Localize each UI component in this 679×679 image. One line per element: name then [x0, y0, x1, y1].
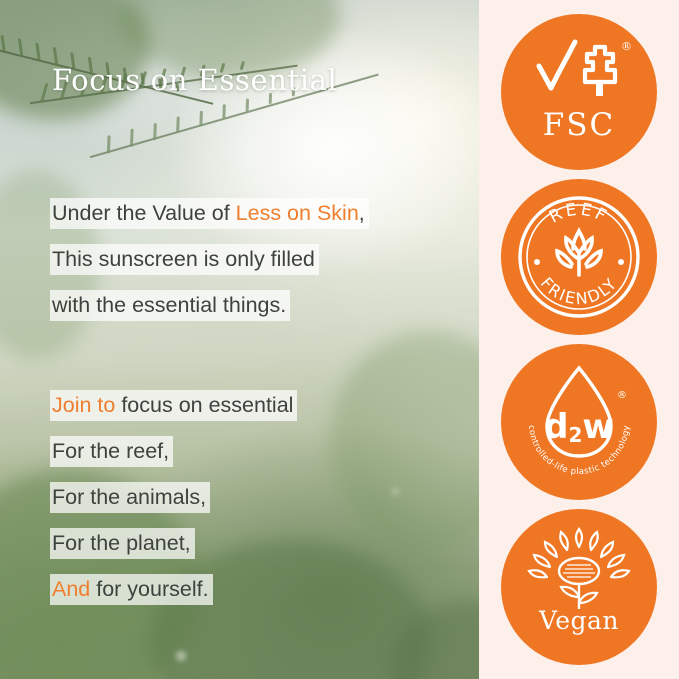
- text-run: for yourself.: [90, 577, 208, 601]
- page-title: Focus on Essential: [52, 63, 337, 97]
- vegan-label: Vegan: [539, 606, 619, 635]
- registered-mark: ®: [617, 390, 627, 401]
- svg-text:FRIENDLY: FRIENDLY: [537, 274, 622, 309]
- text-run: This sunscreen is only filled: [52, 247, 315, 271]
- text-line: This sunscreen is only filled: [50, 246, 369, 273]
- vegan-badge: Vegan: [501, 509, 657, 665]
- reef-friendly-badge: REEF FRIENDLY: [501, 179, 657, 335]
- text-line: Under the Value of Less on Skin,: [50, 200, 369, 227]
- text-line: For the animals,: [50, 484, 297, 511]
- text-run: with the essential things.: [52, 293, 286, 317]
- text-run: ,: [359, 201, 365, 225]
- text-run: For the reef,: [52, 439, 169, 463]
- sunflower-icon: [501, 509, 657, 665]
- tree-checkmark-icon: ®: [501, 14, 657, 170]
- paragraph-two: Join to focus on essential For the reef,…: [50, 392, 297, 622]
- text-line: with the essential things.: [50, 292, 369, 319]
- registered-mark: ®: [621, 40, 632, 53]
- reef-label-bottom: FRIENDLY: [537, 274, 622, 309]
- text-run-highlight: Less on Skin: [236, 201, 359, 225]
- text-line: For the reef,: [50, 438, 297, 465]
- text-run: Under the Value of: [52, 201, 236, 225]
- bokeh-dot: [176, 651, 186, 661]
- text-run: For the planet,: [52, 531, 191, 555]
- text-line: And for yourself.: [50, 576, 297, 603]
- d2w-label: d2w: [544, 407, 614, 447]
- text-line: Join to focus on essential: [50, 392, 297, 419]
- poster: Focus on Essential Under the Value of Le…: [0, 0, 679, 679]
- fsc-label: FSC: [543, 107, 615, 143]
- d2w-badge: d2w ® controlled-life plastic technology: [501, 344, 657, 500]
- coral-icon: REEF FRIENDLY: [501, 179, 657, 335]
- text-run: focus on essential: [115, 393, 293, 417]
- photo-panel: Focus on Essential Under the Value of Le…: [0, 0, 479, 679]
- droplet-icon: d2w ® controlled-life plastic technology: [501, 344, 657, 500]
- text-run-highlight: And: [52, 577, 90, 601]
- certification-badges-panel: ® FSC REEF FRIENDLY: [479, 0, 679, 679]
- text-run-highlight: Join to: [52, 393, 115, 417]
- paragraph-one: Under the Value of Less on Skin, This su…: [50, 200, 369, 338]
- bokeh-dot: [392, 488, 399, 495]
- fsc-badge: ® FSC: [501, 14, 657, 170]
- text-run: For the animals,: [52, 485, 206, 509]
- text-line: For the planet,: [50, 530, 297, 557]
